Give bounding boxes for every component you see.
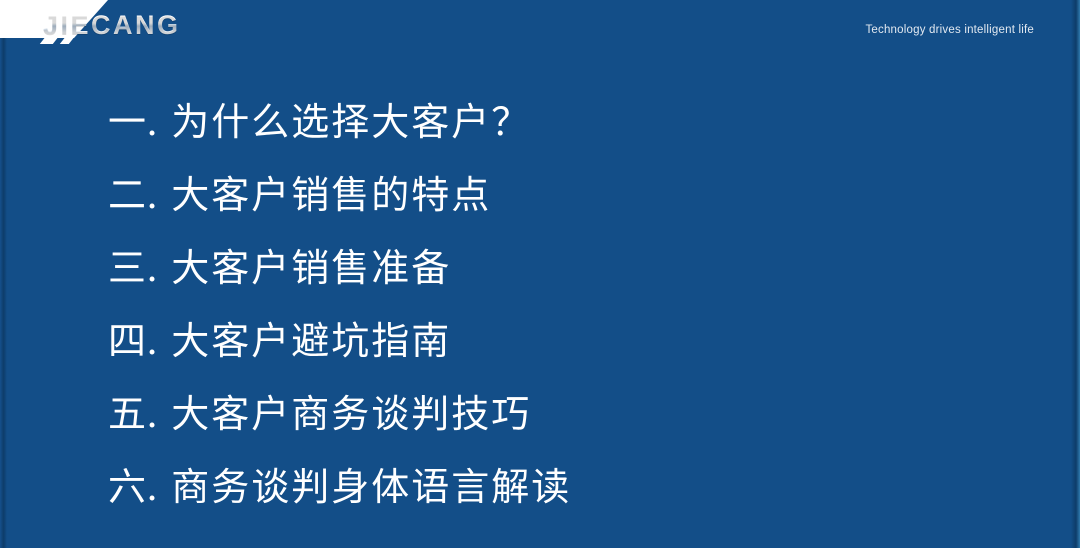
agenda-item[interactable]: 四. 大客户避坑指南 <box>108 305 1008 378</box>
agenda-list: 一. 为什么选择大客户？ 二. 大客户销售的特点 三. 大客户销售准备 四. 大… <box>108 86 1008 524</box>
logo-wordmark: JIECANG <box>43 10 181 41</box>
agenda-item-label: 大客户销售准备 <box>171 246 451 290</box>
company-logo[interactable]: JIECANG <box>0 0 200 46</box>
slide-header: JIECANG Technology drives intelligent li… <box>0 0 1080 52</box>
agenda-item-number: 一. <box>108 100 158 144</box>
agenda-item[interactable]: 六. 商务谈判身体语言解读 <box>108 451 1008 524</box>
agenda-item-number: 六. <box>108 465 158 509</box>
agenda-item-label: 大客户避坑指南 <box>171 319 451 363</box>
agenda-item[interactable]: 三. 大客户销售准备 <box>108 232 1008 305</box>
agenda-item-number: 三. <box>108 246 158 290</box>
slide-left-edge <box>0 0 7 548</box>
agenda-item-number: 二. <box>108 173 158 217</box>
agenda-item-label: 为什么选择大客户？ <box>171 100 531 144</box>
agenda-item-label: 大客户商务谈判技巧 <box>171 392 531 436</box>
agenda-item[interactable]: 二. 大客户销售的特点 <box>108 159 1008 232</box>
agenda-item-number: 五. <box>108 392 158 436</box>
company-tagline: Technology drives intelligent life <box>865 24 1034 36</box>
agenda-item-number: 四. <box>108 319 158 363</box>
presentation-slide: JIECANG Technology drives intelligent li… <box>0 0 1080 548</box>
agenda-item-label: 大客户销售的特点 <box>171 173 491 217</box>
agenda-item-label: 商务谈判身体语言解读 <box>171 465 571 509</box>
slide-right-edge <box>1071 0 1080 548</box>
agenda-item[interactable]: 五. 大客户商务谈判技巧 <box>108 378 1008 451</box>
agenda-item[interactable]: 一. 为什么选择大客户？ <box>108 86 1008 159</box>
